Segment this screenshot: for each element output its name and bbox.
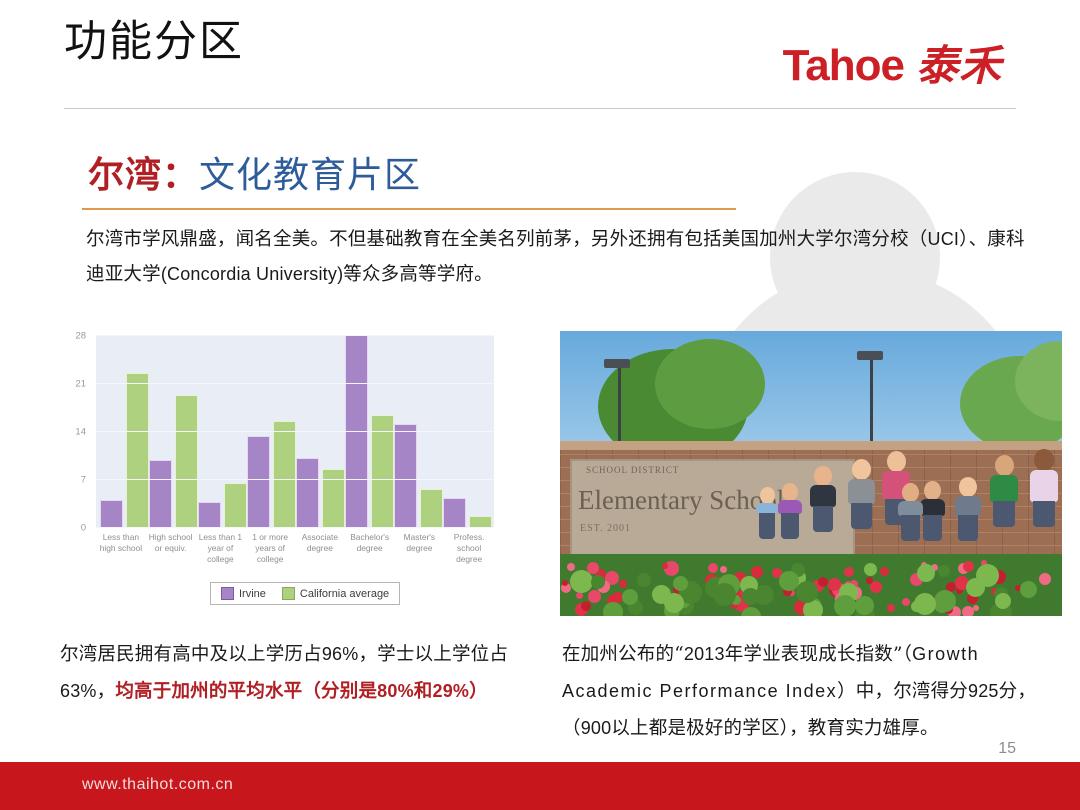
child-torso — [778, 500, 802, 514]
photo-flower — [708, 563, 718, 573]
photo-lamp — [857, 351, 883, 360]
footer-url: www.thaihot.com.cn — [82, 776, 233, 794]
photo-foliage — [664, 593, 684, 613]
child-legs — [813, 506, 833, 532]
child-head — [887, 451, 906, 472]
chart-gridline — [96, 383, 494, 384]
chart-bar-group — [443, 336, 492, 528]
chart-bar-group — [296, 336, 345, 528]
caption-right-part2: 年学业表现成长指数”（ — [725, 644, 912, 665]
chart-y-tick: 0 — [81, 523, 86, 534]
caption-left-highlight2: 和 — [414, 681, 433, 702]
chart-legend-item[interactable]: Irvine — [221, 587, 266, 600]
photo-flower — [963, 561, 974, 572]
footer-bar: www.thaihot.com.cn — [0, 762, 1080, 810]
caption-right-num3: 900 — [581, 718, 612, 738]
chart-bar — [420, 489, 443, 528]
child-head — [760, 487, 775, 504]
chart-bar — [149, 460, 172, 528]
photo-flower — [962, 606, 974, 616]
chart-bar-group — [247, 336, 296, 528]
caption-left: 尔湾居民拥有高中及以上学历占96%，学士以上学位占63%，均高于加州的平均水平（… — [60, 636, 530, 710]
photo-foliage — [1020, 581, 1037, 598]
logo-text-cn: 泰禾 — [916, 32, 1002, 93]
caption-left-num2: 63% — [60, 681, 97, 701]
photo-foliage — [914, 593, 936, 615]
photo-foliage — [637, 573, 651, 587]
chart-gridline — [96, 479, 494, 480]
sign-district-text: SCHOOL DISTRICT — [586, 465, 679, 475]
chart-legend: IrvineCalifornia average — [210, 582, 400, 605]
photo-foliage — [864, 563, 877, 576]
intro-text-2: ）、 — [959, 229, 987, 250]
legend-swatch-icon — [221, 587, 234, 600]
child-head — [814, 466, 832, 486]
legend-label: California average — [300, 588, 389, 600]
photo-foliage — [934, 597, 950, 613]
child-legs — [923, 515, 942, 541]
chart-x-label: Profess. school degree — [444, 532, 494, 565]
chart-plot-area — [96, 336, 494, 528]
caption-left-highlight-num2: 29% — [433, 681, 470, 701]
chart-y-tick: 14 — [75, 427, 86, 438]
chart-x-label: Less than 1 year of college — [196, 532, 246, 565]
photo-flower — [887, 604, 895, 612]
photo-foliage — [976, 564, 999, 587]
child-legs — [759, 513, 775, 539]
chart-bar — [247, 436, 270, 528]
photo-foliage — [673, 576, 688, 591]
photo-tree — [655, 339, 765, 429]
photo-foliage — [742, 588, 759, 605]
chart-bars — [96, 336, 494, 528]
legend-label: Irvine — [239, 588, 266, 600]
chart-gridline — [96, 431, 494, 432]
caption-left-part2: ，学士以上学位占 — [358, 644, 508, 665]
child-torso — [898, 501, 923, 516]
child-legs — [1033, 501, 1055, 527]
child-torso — [955, 496, 981, 516]
legend-swatch-icon — [282, 587, 295, 600]
chart-x-label: Bachelor's degree — [345, 532, 395, 565]
photo-flower — [662, 563, 668, 569]
photo-flower — [866, 577, 873, 584]
caption-right-num2: 925 — [968, 681, 999, 701]
intro-text-concordia: (Concordia University) — [161, 264, 343, 284]
caption-left-part3: ， — [97, 681, 116, 702]
caption-left-highlight-num1: 80% — [377, 681, 414, 701]
chart-bar — [100, 500, 123, 528]
chart-bar — [322, 469, 345, 528]
chart-y-tick: 28 — [75, 331, 86, 342]
caption-right-part3: ）中，尔湾得分 — [837, 681, 968, 702]
child-torso — [1030, 470, 1058, 502]
photo-flower — [619, 580, 627, 588]
subtitle-topic: 文化教育片区 — [199, 155, 421, 196]
photo-light-pole — [870, 353, 873, 453]
chart-bar-group — [149, 336, 198, 528]
photo-wall-cap — [560, 441, 1062, 450]
chart-bar — [175, 395, 198, 528]
child-head — [995, 455, 1014, 476]
chart-x-label: 1 or more years of college — [245, 532, 295, 565]
caption-right-part1: 在加州公布的“ — [562, 644, 684, 665]
photo-flower — [1039, 573, 1051, 585]
photo-foliage — [855, 596, 874, 615]
photo-foliage — [938, 565, 950, 577]
chart-legend-item[interactable]: California average — [282, 587, 389, 600]
chart-y-axis: 07142128 — [52, 336, 92, 528]
chart-bar — [273, 421, 296, 528]
photo-flower — [902, 598, 910, 606]
caption-right: 在加州公布的“2013年学业表现成长指数”（Growth Academic Pe… — [562, 636, 1062, 747]
education-attainment-chart: 07142128 Less than high schoolHigh schoo… — [52, 332, 500, 617]
photo-foliage — [713, 583, 736, 606]
intro-text-uci: UCI — [928, 229, 960, 249]
child-head — [924, 481, 941, 500]
section-subtitle: 尔湾：文化教育片区 — [88, 146, 421, 198]
child-legs — [851, 503, 872, 529]
chart-bar-group — [394, 336, 443, 528]
school-photo: SCHOOL DISTRICT Elementary School EST. 2… — [560, 331, 1062, 616]
photo-flower — [576, 592, 583, 599]
chart-bar — [224, 483, 247, 528]
intro-text-4: 等众多高等学府。 — [343, 264, 493, 285]
chart-bar — [126, 373, 149, 528]
caption-right-num1: 2013 — [684, 644, 725, 664]
chart-y-tick: 21 — [75, 379, 86, 390]
page-number: 15 — [998, 740, 1016, 758]
photo-foliage — [834, 595, 856, 616]
chart-bar-group — [100, 336, 149, 528]
photo-flower — [844, 567, 854, 577]
photo-flower — [818, 577, 828, 587]
chart-y-tick: 7 — [81, 475, 86, 486]
subtitle-city: 尔湾： — [88, 154, 199, 196]
chart-x-axis-labels: Less than high schoolHigh school or equi… — [96, 532, 494, 565]
caption-left-part1: 尔湾居民拥有高中及以上学历占 — [60, 644, 322, 665]
child-head — [959, 477, 977, 497]
page-title: 功能分区 — [64, 18, 244, 67]
sign-established-text: EST. 2001 — [580, 523, 631, 534]
chart-bar — [443, 498, 466, 528]
child-torso — [920, 499, 945, 516]
chart-x-label: High school or equiv. — [146, 532, 196, 565]
child-torso — [810, 485, 836, 507]
caption-left-highlight1: 均高于加州的平均水平（分别是 — [115, 681, 377, 702]
caption-left-num1: 96% — [322, 644, 359, 664]
chart-x-label: Master's degree — [395, 532, 445, 565]
photo-flower — [567, 563, 575, 571]
photo-flower — [720, 566, 727, 573]
child-head — [782, 483, 798, 501]
child-head — [1034, 449, 1054, 471]
photo-flower — [581, 601, 591, 611]
chart-gridline — [96, 527, 494, 528]
child-legs — [781, 513, 799, 539]
chart-x-label: Less than high school — [96, 532, 146, 565]
photo-foliage — [917, 564, 935, 582]
photo-foliage — [779, 571, 799, 591]
subtitle-divider — [82, 208, 736, 210]
logo-text-en: Tahoe — [783, 41, 904, 91]
chart-bar-group — [345, 336, 394, 528]
caption-right-part5: 以上都是极好的学区），教育实力雄厚。 — [611, 718, 938, 739]
photo-flower — [880, 567, 889, 576]
child-head — [902, 483, 919, 502]
chart-bar — [394, 424, 417, 528]
tahoe-logo: Tahoe 泰禾 — [783, 32, 1002, 93]
photo-flower — [562, 580, 568, 586]
child-torso — [848, 479, 875, 504]
sign-school-name: Elementary School — [578, 485, 784, 516]
child-head — [852, 459, 871, 480]
chart-x-label: Associate degree — [295, 532, 345, 565]
photo-foliage — [796, 581, 818, 603]
intro-text-1: 尔湾市学风鼎盛，闻名全美。不但基础教育在全美名列前茅，另外还拥有包括美国加州大学… — [86, 229, 928, 250]
child-legs — [901, 515, 920, 541]
photo-foliage — [622, 589, 638, 605]
photo-foliage — [603, 602, 623, 616]
slide: 功能分区 Tahoe 泰禾 尔湾：文化教育片区 尔湾市学风鼎盛，闻名全美。不但基… — [0, 0, 1080, 810]
chart-bar — [296, 458, 319, 528]
chart-gridline — [96, 335, 494, 336]
child-legs — [958, 515, 978, 541]
header-divider — [64, 108, 1016, 109]
caption-left-highlight3: ） — [469, 681, 488, 702]
chart-bar-group — [198, 336, 247, 528]
photo-lamp — [604, 359, 630, 368]
photo-foliage — [591, 575, 605, 589]
child-legs — [993, 501, 1015, 527]
chart-bar — [371, 415, 394, 528]
photo-foliage — [570, 570, 593, 593]
intro-paragraph: 尔湾市学风鼎盛，闻名全美。不但基础教育在全美名列前茅，另外还拥有包括美国加州大学… — [86, 222, 1038, 292]
chart-bar — [198, 502, 221, 528]
photo-foliage — [995, 593, 1011, 609]
child-torso — [990, 475, 1018, 502]
